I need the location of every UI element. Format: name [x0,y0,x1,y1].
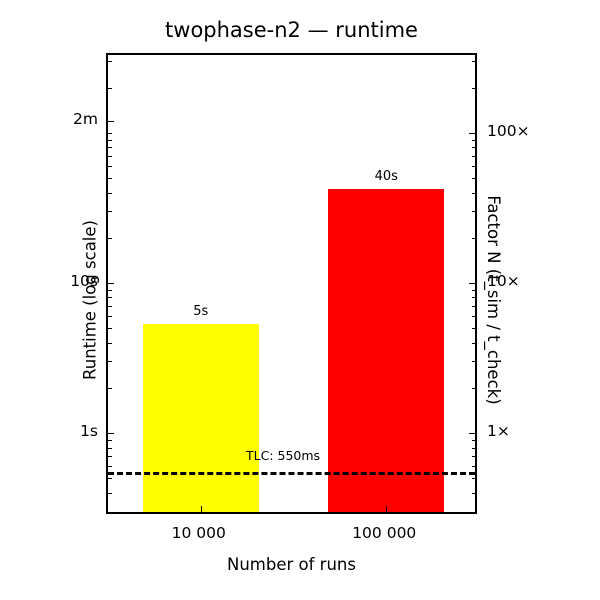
y-tick-label-right: 10× [487,272,520,290]
y-tick-minor-left [108,147,112,148]
y-tick-major-left [108,283,114,284]
bar-10000[interactable] [143,324,259,512]
y-tick-major-right [469,433,475,434]
y-tick-minor-right [472,140,476,141]
y-tick-minor-left [108,448,112,449]
y-tick-minor-left [108,211,112,212]
y-tick-minor-right [472,290,476,291]
y-tick-minor-right [472,193,476,194]
figure: twophase-n2 — runtime Runtime (log scale… [0,0,600,600]
y-tick-minor-left [108,343,112,344]
y-tick-minor-left [108,178,112,179]
y-tick-major-right [469,133,475,134]
y-tick-minor-right [472,306,476,307]
y-tick-minor-right [472,466,476,467]
x-tick-major [201,506,202,512]
y-tick-minor-left [108,493,112,494]
y-tick-minor-left [108,512,112,513]
threshold-label: TLC: 550ms [246,448,320,463]
bar-value-label: 40s [346,169,426,184]
y-axis-label-right: Factor N (t_sim / t_check) [484,195,503,404]
y-tick-major-right [469,283,475,284]
y-tick-minor-right [472,166,476,167]
y-tick-minor-right [472,211,476,212]
chart-title: twophase-n2 — runtime [106,18,477,42]
y-tick-minor-right [472,238,476,239]
y-tick-minor-right [472,388,476,389]
y-tick-minor-left [108,140,112,141]
x-tick-label-100000: 100 000 [352,524,416,542]
y-tick-major-left [108,121,114,122]
y-tick-minor-right [472,493,476,494]
y-tick-minor-left [108,478,112,479]
y-tick-minor-right [472,297,476,298]
y-tick-minor-right [472,178,476,179]
y-tick-minor-left [108,440,112,441]
y-tick-minor-right [472,448,476,449]
y-tick-minor-left [108,388,112,389]
y-tick-minor-left [108,156,112,157]
x-axis-label: Number of runs [106,555,477,574]
y-tick-minor-right [472,328,476,329]
y-tick-minor-left [108,238,112,239]
y-tick-minor-left [108,61,112,62]
y-tick-major-left [108,433,114,434]
y-tick-minor-right [472,440,476,441]
y-axis-label-left: Runtime (log scale) [80,220,99,380]
y-tick-minor-right [472,156,476,157]
plot-area: 5s40sTLC: 550ms [106,53,477,514]
y-tick-minor-left [108,466,112,467]
y-tick-minor-left [108,306,112,307]
y-tick-minor-right [472,147,476,148]
y-tick-minor-right [472,361,476,362]
x-tick-major [386,506,387,512]
y-tick-minor-left [108,290,112,291]
y-tick-minor-left [108,456,112,457]
bar-value-label: 5s [161,304,241,319]
y-tick-minor-right [472,478,476,479]
y-tick-minor-left [108,316,112,317]
y-tick-minor-left [108,133,112,134]
x-tick-label-10000: 10 000 [172,524,226,542]
y-tick-label-right: 1× [487,422,510,440]
y-tick-label-left: 1s [10,422,98,440]
bar-100000[interactable] [328,189,444,512]
y-tick-minor-left [108,328,112,329]
y-tick-minor-left [108,361,112,362]
y-tick-minor-left [108,88,112,89]
y-tick-minor-right [472,88,476,89]
y-tick-minor-left [108,166,112,167]
y-tick-minor-right [472,512,476,513]
y-tick-label-right: 100× [487,122,530,140]
y-tick-minor-right [472,61,476,62]
y-tick-minor-left [108,297,112,298]
y-tick-minor-left [108,193,112,194]
y-tick-minor-right [472,456,476,457]
y-tick-label-left: 2m [10,110,98,128]
y-tick-label-left: 10s [10,272,98,290]
y-tick-minor-right [472,343,476,344]
threshold-line-tlc-threshold [108,472,475,475]
y-tick-minor-right [472,316,476,317]
